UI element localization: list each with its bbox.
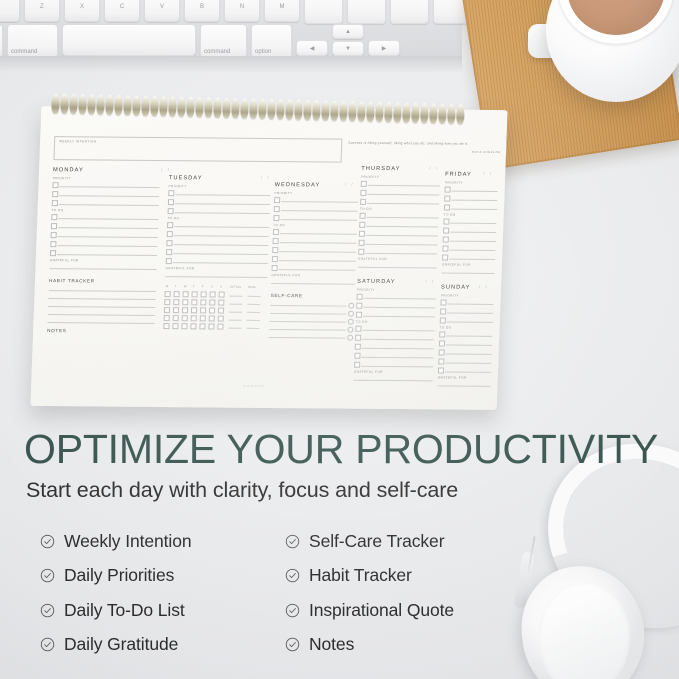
- key-label: option: [255, 49, 271, 55]
- habit-checkbox[interactable]: [200, 307, 206, 313]
- checkbox[interactable]: [442, 255, 448, 261]
- key-z[interactable]: Z: [24, 0, 60, 22]
- habit-value-line: [229, 304, 242, 305]
- priority-label-tuesday: PRIORITY: [168, 184, 186, 188]
- spiral-coil: [384, 102, 393, 122]
- spiral-coil: [321, 100, 330, 120]
- key-option-right[interactable]: option: [251, 24, 292, 58]
- key-command-right[interactable]: command: [200, 24, 247, 58]
- date-line-friday: / /: [483, 171, 493, 176]
- spiral-coil: [249, 98, 258, 118]
- day-heading-friday: FRIDAY: [445, 172, 472, 178]
- spiral-coil: [204, 97, 213, 117]
- habit-checkbox[interactable]: [200, 299, 206, 305]
- spiral-coil: [330, 101, 339, 121]
- spiral-coil: [285, 99, 294, 119]
- spiral-coil: [105, 95, 114, 115]
- spiral-coil: [60, 94, 69, 114]
- todo-label-tuesday: TO DO: [167, 216, 179, 220]
- habit-value-line: [247, 304, 260, 305]
- key-label: command: [11, 49, 37, 55]
- habit-day-letter: T: [175, 285, 177, 288]
- habit-value-line: [229, 312, 242, 313]
- spiral-coil: [339, 101, 348, 121]
- spiral-coil: [312, 100, 321, 120]
- quote-author: MAYA ANGELOU: [472, 150, 501, 154]
- key-x[interactable]: X: [64, 0, 100, 22]
- todo-label-friday: TO DO: [444, 213, 456, 217]
- check-circle-icon: [40, 637, 55, 652]
- habit-checkbox[interactable]: [218, 300, 224, 306]
- grateful-label-wednesday: GRATEFUL FOR: [271, 273, 300, 277]
- self-care-circle[interactable]: [348, 319, 354, 325]
- key-arrow-down[interactable]: ▼: [332, 41, 364, 56]
- habit-checkbox[interactable]: [164, 299, 170, 305]
- habit-checkbox[interactable]: [173, 299, 179, 305]
- planner-printed-layout: WEEKLY INTENTION Success is liking yours…: [30, 106, 507, 410]
- spiral-coil: [231, 98, 240, 118]
- checkbox[interactable]: [51, 214, 57, 220]
- checkbox[interactable]: [355, 335, 361, 341]
- habit-checkbox[interactable]: [182, 291, 188, 297]
- spiral-coil: [420, 103, 429, 123]
- spiral-coil: [51, 93, 60, 113]
- key-arrow-right[interactable]: ▶: [368, 40, 400, 56]
- feature-label: Weekly Intention: [64, 531, 191, 552]
- checkbox[interactable]: [440, 308, 446, 314]
- check-circle-icon: [285, 637, 300, 652]
- checkbox[interactable]: [356, 303, 362, 309]
- key-v[interactable]: V: [144, 0, 180, 22]
- arrow-right-icon: ▶: [382, 45, 387, 52]
- keyboard-base-edge: [0, 56, 462, 72]
- grateful-label-friday: GRATEFUL FOR: [442, 263, 471, 267]
- priority-label-monday: PRIORITY: [53, 176, 71, 180]
- checkbox[interactable]: [272, 265, 278, 271]
- checkbox[interactable]: [168, 199, 174, 205]
- checkbox[interactable]: [438, 367, 444, 373]
- spiral-coil: [276, 99, 285, 119]
- key-label: V: [160, 4, 164, 10]
- priority-label-thursday: PRIORITY: [361, 175, 379, 179]
- key-label: >: [378, 0, 382, 1]
- key-shift-left[interactable]: [0, 0, 20, 22]
- habit-actual-label: ACTUAL: [230, 286, 242, 289]
- key-label: ?: [422, 0, 425, 1]
- checkbox[interactable]: [438, 358, 444, 364]
- habit-value-line: [230, 296, 243, 297]
- spiral-coil: [258, 99, 267, 119]
- key-m[interactable]: M: [264, 0, 300, 22]
- key-comma[interactable]: <: [304, 0, 343, 24]
- habit-day-letter: T: [193, 285, 195, 288]
- checkbox[interactable]: [167, 231, 173, 237]
- feature-label: Daily To-Do List: [64, 600, 185, 621]
- page-subtitle: Start each day with clarity, focus and s…: [26, 478, 646, 503]
- checkbox[interactable]: [166, 258, 172, 264]
- grateful-label-monday: GRATEFUL FOR: [50, 258, 79, 262]
- checkbox[interactable]: [439, 331, 445, 337]
- self-care-circle[interactable]: [348, 311, 354, 317]
- habit-checkbox[interactable]: [201, 291, 207, 297]
- key-spacebar[interactable]: [62, 24, 196, 56]
- feature-item-daily-priorities: Daily Priorities: [40, 565, 285, 586]
- check-circle-icon: [40, 603, 55, 618]
- feature-item-daily-todo-list: Daily To-Do List: [40, 600, 285, 621]
- arrow-up-icon: ▲: [345, 29, 351, 35]
- checkbox[interactable]: [440, 299, 446, 305]
- habit-goal-label: GOAL: [248, 286, 256, 289]
- habit-checkbox[interactable]: [164, 315, 170, 321]
- key-label: C: [120, 4, 124, 10]
- habit-value-line: [247, 312, 260, 313]
- spiral-coil: [213, 98, 222, 118]
- coffee-mug: [540, 0, 679, 108]
- arrow-down-icon: ▼: [345, 46, 351, 52]
- habit-value-line: [248, 296, 261, 297]
- checkbox[interactable]: [272, 256, 278, 262]
- feature-item-weekly-intention: Weekly Intention: [40, 531, 285, 552]
- key-c[interactable]: C: [104, 0, 140, 22]
- spiral-coil: [168, 96, 177, 116]
- priority-label-saturday: PRIORITY: [357, 288, 375, 292]
- key-b[interactable]: B: [184, 0, 220, 22]
- checkbox[interactable]: [443, 219, 449, 225]
- habit-checkbox[interactable]: [191, 307, 197, 313]
- grateful-label-sunday: GRATEFUL FOR: [438, 375, 467, 379]
- planner-brand-mark: productive: [243, 384, 265, 388]
- day-heading-wednesday: WEDNESDAY: [275, 182, 321, 188]
- feature-item-daily-gratitude: Daily Gratitude: [40, 634, 285, 655]
- key-slash[interactable]: ?: [390, 0, 429, 24]
- habit-checkbox[interactable]: [163, 323, 169, 329]
- spiral-coil: [375, 102, 384, 122]
- checkbox[interactable]: [359, 213, 365, 219]
- date-line-thursday: / /: [429, 165, 439, 170]
- habit-checkbox[interactable]: [192, 291, 198, 297]
- day-heading-tuesday: TUESDAY: [169, 175, 203, 181]
- notes-heading: NOTES: [47, 328, 67, 333]
- spiral-coil: [456, 104, 465, 124]
- spiral-coil: [240, 98, 249, 118]
- habit-checkbox[interactable]: [182, 315, 188, 321]
- checkbox[interactable]: [273, 229, 279, 235]
- key-arrow-up[interactable]: ▲: [332, 24, 364, 39]
- grateful-label-thursday: GRATEFUL FOR: [358, 257, 387, 261]
- key-label: Z: [40, 4, 44, 10]
- checkbox[interactable]: [360, 190, 366, 196]
- spiral-coil: [429, 103, 438, 123]
- self-care-circle[interactable]: [347, 335, 353, 341]
- habit-checkbox[interactable]: [219, 292, 225, 298]
- priority-label-wednesday: PRIORITY: [274, 191, 292, 195]
- keyboard-letter-row: Z X C V B N M < > ? shift: [0, 0, 508, 24]
- spiral-coil: [357, 101, 366, 121]
- checkbox[interactable]: [360, 199, 366, 205]
- weekly-planner-notepad: WEEKLY INTENTION Success is liking yours…: [31, 100, 508, 417]
- feature-label: Notes: [309, 634, 354, 655]
- spiral-coil: [78, 94, 87, 114]
- spiral-coil: [195, 97, 204, 117]
- spiral-coil: [150, 96, 159, 116]
- checkbox[interactable]: [51, 223, 57, 229]
- todo-label-thursday: TO DO: [360, 207, 372, 211]
- self-care-heading: SELF-CARE: [271, 293, 303, 298]
- spiral-coil: [141, 96, 150, 116]
- habit-checkbox[interactable]: [181, 323, 187, 329]
- spiral-coil: [69, 94, 78, 114]
- checkbox[interactable]: [355, 326, 361, 332]
- checkbox[interactable]: [357, 294, 363, 300]
- checkbox[interactable]: [445, 187, 451, 193]
- habit-tracker-heading: HABIT TRACKER: [49, 278, 95, 283]
- spiral-coil: [159, 96, 168, 116]
- checkbox[interactable]: [359, 240, 365, 246]
- product-lifestyle-scene: Z X C V B N M < > ? shift option command…: [0, 0, 679, 679]
- checkbox[interactable]: [168, 190, 174, 196]
- day-heading-thursday: THURSDAY: [361, 166, 400, 172]
- habit-checkbox[interactable]: [210, 291, 216, 297]
- feature-label: Habit Tracker: [309, 565, 412, 586]
- checkbox[interactable]: [440, 317, 446, 323]
- spiral-coil: [222, 98, 231, 118]
- checkbox[interactable]: [356, 312, 362, 318]
- key-label: <: [335, 0, 339, 1]
- habit-checkbox[interactable]: [217, 324, 223, 330]
- day-heading-sunday: SUNDAY: [441, 284, 471, 290]
- feature-item-notes: Notes: [285, 634, 640, 655]
- habit-checkbox[interactable]: [191, 299, 197, 305]
- spiral-coil: [447, 104, 456, 124]
- feature-label: Daily Priorities: [64, 565, 174, 586]
- habit-value-line: [246, 328, 259, 329]
- habit-checkbox[interactable]: [164, 291, 170, 297]
- spiral-coil: [186, 97, 195, 117]
- key-label: command: [204, 49, 230, 55]
- priority-label-sunday: PRIORITY: [441, 293, 459, 297]
- checkbox[interactable]: [274, 197, 280, 203]
- key-arrow-left[interactable]: ◀: [296, 40, 328, 56]
- checkbox[interactable]: [361, 181, 367, 187]
- checkbox[interactable]: [359, 231, 365, 237]
- habit-checkbox[interactable]: [200, 315, 206, 321]
- feature-label: Daily Gratitude: [64, 634, 178, 655]
- checkbox[interactable]: [52, 200, 58, 206]
- habit-checkbox[interactable]: [164, 307, 170, 313]
- key-n[interactable]: N: [224, 0, 260, 22]
- checkbox[interactable]: [354, 353, 360, 359]
- feature-item-inspirational-quote: Inspirational Quote: [285, 600, 640, 621]
- checkbox[interactable]: [439, 340, 445, 346]
- checkbox[interactable]: [354, 362, 360, 368]
- habit-day-letter: S: [220, 286, 222, 289]
- key-option-left[interactable]: option: [0, 24, 3, 58]
- habit-checkbox[interactable]: [208, 323, 214, 329]
- habit-checkbox[interactable]: [182, 307, 188, 313]
- habit-checkbox[interactable]: [199, 323, 205, 329]
- grateful-label-tuesday: GRATEFUL FOR: [165, 266, 194, 270]
- day-heading-saturday: SATURDAY: [357, 279, 396, 285]
- checkbox[interactable]: [52, 182, 58, 188]
- spiral-coil: [267, 99, 276, 119]
- key-label: M: [280, 4, 285, 10]
- spiral-coil: [96, 94, 105, 114]
- habit-checkbox[interactable]: [173, 307, 179, 313]
- habit-checkbox[interactable]: [172, 323, 178, 329]
- spiral-coil: [303, 100, 312, 120]
- apple-magic-keyboard: Z X C V B N M < > ? shift option command…: [0, 0, 462, 68]
- keyboard-modifier-row: option command command option ◀ ▲ ▼ ▶: [0, 24, 400, 58]
- habit-checkbox[interactable]: [209, 307, 215, 313]
- weekly-intention-label: WEEKLY INTENTION: [59, 139, 97, 143]
- habit-value-line: [247, 320, 260, 321]
- date-line-monday: / /: [161, 167, 171, 172]
- habit-checkbox[interactable]: [218, 308, 224, 314]
- habit-checkbox[interactable]: [209, 315, 215, 321]
- priority-label-friday: PRIORITY: [445, 181, 463, 185]
- spiral-coil: [87, 94, 96, 114]
- habit-day-letter: M: [166, 285, 169, 288]
- habit-checkbox[interactable]: [190, 323, 196, 329]
- self-care-circle[interactable]: [348, 303, 354, 309]
- checkbox[interactable]: [166, 249, 172, 255]
- habit-checkbox[interactable]: [209, 299, 215, 305]
- habit-day-letter: S: [211, 285, 213, 288]
- checkbox[interactable]: [166, 240, 172, 246]
- checkbox[interactable]: [50, 250, 56, 256]
- spiral-coil: [294, 100, 303, 120]
- checkbox[interactable]: [439, 349, 445, 355]
- spiral-coil: [366, 102, 375, 122]
- spiral-coil: [393, 102, 402, 122]
- date-line-wednesday: / /: [345, 182, 355, 187]
- check-circle-icon: [285, 568, 300, 583]
- checkbox[interactable]: [51, 232, 57, 238]
- check-circle-icon: [40, 534, 55, 549]
- key-label: N: [240, 4, 244, 10]
- checkbox[interactable]: [50, 241, 56, 247]
- check-circle-icon: [40, 568, 55, 583]
- spiral-coil: [348, 101, 357, 121]
- habit-checkbox[interactable]: [182, 299, 188, 305]
- key-label: B: [200, 4, 204, 10]
- feature-label: Inspirational Quote: [309, 600, 454, 621]
- habit-value-line: [229, 320, 242, 321]
- date-line-saturday: / /: [425, 278, 435, 283]
- checkbox[interactable]: [274, 206, 280, 212]
- checkbox[interactable]: [443, 228, 449, 234]
- checkbox[interactable]: [443, 237, 449, 243]
- habit-checkbox[interactable]: [173, 315, 179, 321]
- feature-item-habit-tracker: Habit Tracker: [285, 565, 640, 586]
- checkbox[interactable]: [272, 247, 278, 253]
- page-title: OPTIMIZE YOUR PRODUCTIVITY: [24, 429, 660, 470]
- spiral-coil: [411, 103, 420, 123]
- spiral-coil: [114, 95, 123, 115]
- spiral-coil: [123, 95, 132, 115]
- todo-label-sunday: TO DO: [439, 325, 451, 329]
- checkbox[interactable]: [359, 222, 365, 228]
- spiral-coil: [177, 97, 186, 117]
- self-care-circle[interactable]: [347, 327, 353, 333]
- checkbox[interactable]: [358, 249, 364, 255]
- feature-label: Self-Care Tracker: [309, 531, 444, 552]
- habit-checkbox[interactable]: [218, 316, 224, 322]
- day-heading-monday: MONDAY: [53, 167, 84, 173]
- habit-day-letter: F: [202, 285, 204, 288]
- checkbox[interactable]: [355, 344, 361, 350]
- todo-label-monday: TO DO: [52, 208, 64, 212]
- spiral-coil: [132, 95, 141, 115]
- todo-label-wednesday: TO DO: [273, 223, 285, 227]
- checkbox[interactable]: [52, 191, 58, 197]
- checkbox[interactable]: [273, 238, 279, 244]
- todo-label-saturday: TO DO: [356, 320, 368, 324]
- weekly-intention-box: [53, 136, 342, 162]
- habit-checkbox[interactable]: [173, 291, 179, 297]
- key-label: X: [80, 4, 84, 10]
- checkbox[interactable]: [442, 246, 448, 252]
- checkbox[interactable]: [444, 205, 450, 211]
- feature-item-self-care-tracker: Self-Care Tracker: [285, 531, 640, 552]
- spiral-coil: [438, 103, 447, 123]
- habit-value-line: [228, 328, 241, 329]
- habit-checkbox[interactable]: [191, 315, 197, 321]
- feature-list: Weekly Intention Self-Care Tracker Daily…: [40, 524, 640, 662]
- key-command-left[interactable]: command: [7, 24, 58, 58]
- habit-day-letter: W: [184, 285, 187, 288]
- inspirational-quote: Success is liking yourself, liking what …: [348, 141, 468, 146]
- checkbox[interactable]: [444, 196, 450, 202]
- check-circle-icon: [285, 603, 300, 618]
- arrow-left-icon: ◀: [310, 45, 315, 52]
- spiral-coil: [402, 102, 411, 122]
- date-line-tuesday: / /: [261, 175, 271, 180]
- date-line-sunday: / /: [479, 284, 489, 289]
- checkbox[interactable]: [167, 222, 173, 228]
- check-circle-icon: [285, 534, 300, 549]
- checkbox[interactable]: [168, 208, 174, 214]
- key-period[interactable]: >: [347, 0, 386, 24]
- grateful-label-saturday: GRATEFUL FOR: [354, 370, 383, 374]
- checkbox[interactable]: [273, 215, 279, 221]
- key-arrow-updown-stack: ▲ ▼: [332, 24, 364, 58]
